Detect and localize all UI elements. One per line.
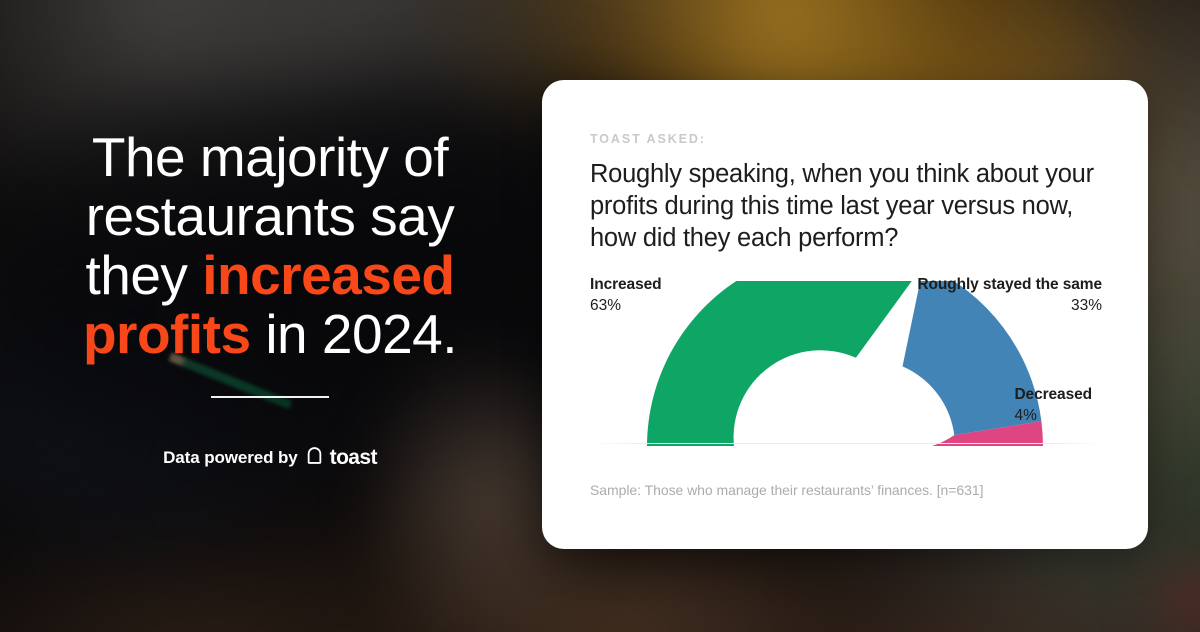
legend-value-roughly-stayed-the-same: 33% [917, 297, 1102, 315]
legend-value-increased: 63% [590, 297, 661, 315]
legend-label-roughly-stayed-the-same: Roughly stayed the same [917, 276, 1102, 294]
legend-label-increased: Increased [590, 276, 661, 294]
toast-wordmark: toast [330, 446, 377, 470]
legend-item-increased: Increased 63% [590, 276, 661, 315]
card-eyebrow: TOAST ASKED: [590, 132, 1102, 146]
stat-card: TOAST ASKED: Roughly speaking, when you … [542, 80, 1148, 549]
headline-highlight-increased: increased [202, 244, 454, 306]
page-title: The majority of restaurants say they inc… [60, 128, 480, 364]
slice-increased [647, 281, 924, 446]
divider [211, 396, 329, 398]
legend-label-decreased: Decreased [1014, 386, 1092, 404]
sample-footnote: Sample: Those who manage their restauran… [590, 482, 983, 498]
powered-by-attribution: Data powered by toast [163, 446, 377, 470]
headline-highlight-profits: profits [83, 303, 251, 365]
toast-slice-icon [305, 446, 324, 470]
survey-question: Roughly speaking, when you think about y… [590, 158, 1102, 254]
baseline-axis [590, 443, 1102, 444]
legend-value-decreased: 4% [1014, 407, 1092, 425]
headline-line-4-suffix: in 2024. [251, 303, 458, 365]
headline-line-3-prefix: they [85, 244, 202, 306]
legend-item-decreased: Decreased 4% [1014, 386, 1092, 425]
headline-line-1: The majority of [92, 126, 448, 188]
infographic-canvas: The majority of restaurants say they inc… [0, 0, 1200, 632]
headline-panel: The majority of restaurants say they inc… [0, 0, 540, 632]
headline-line-2: restaurants say [86, 185, 455, 247]
powered-by-label: Data powered by [163, 448, 298, 468]
legend-item-roughly-stayed-the-same: Roughly stayed the same 33% [917, 276, 1102, 315]
gauge-chart: Increased 63% Roughly stayed the same 33… [590, 276, 1102, 458]
